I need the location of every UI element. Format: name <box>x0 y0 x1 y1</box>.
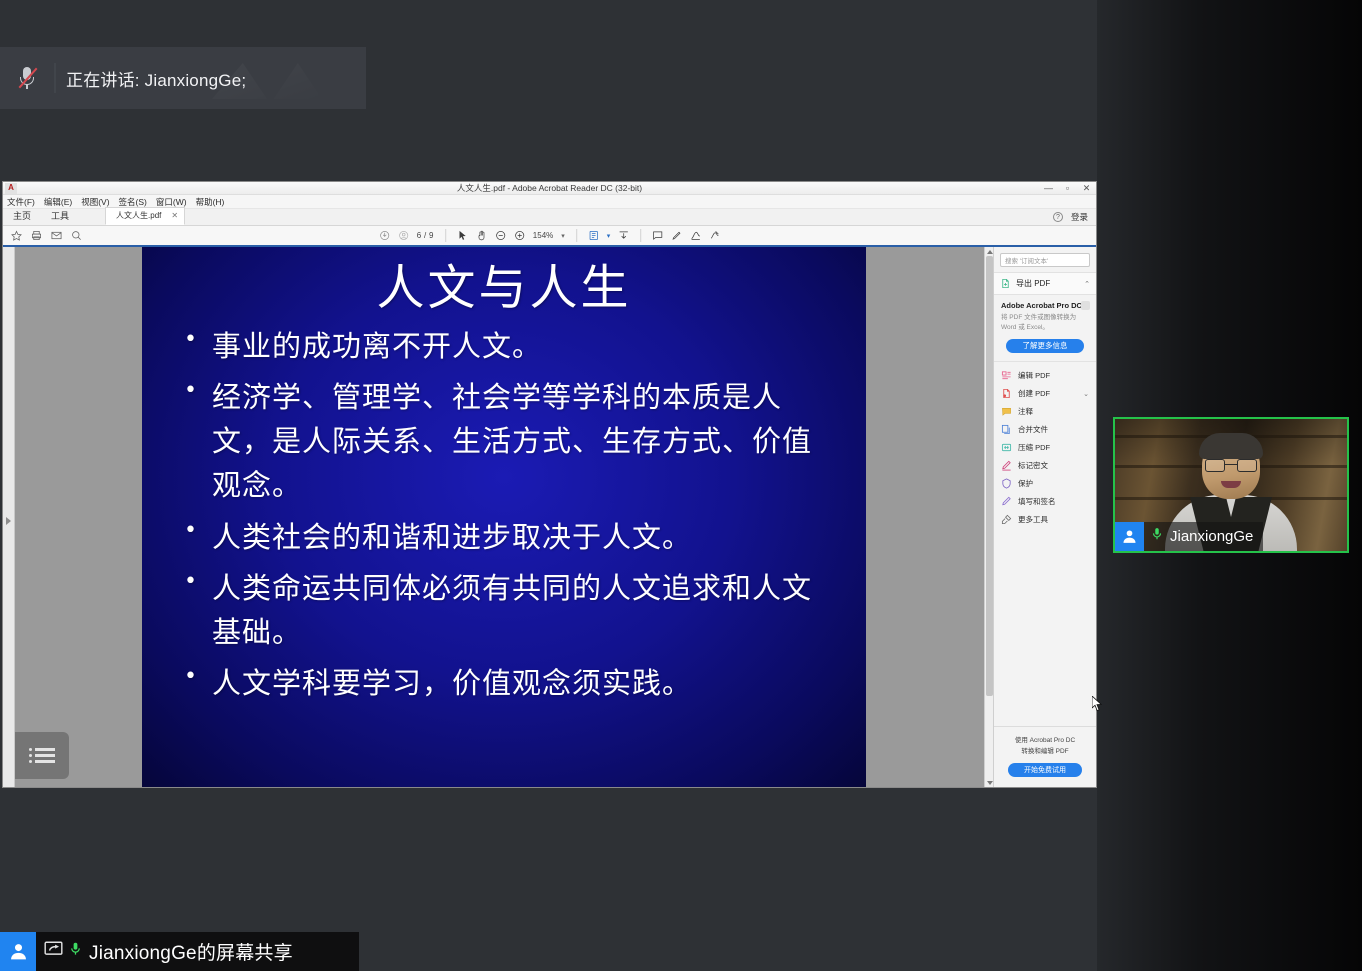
tab-document-label: 人文人生.pdf <box>116 210 161 221</box>
tool-comment[interactable]: 注释 <box>994 403 1096 421</box>
participant-label-bar: JianxiongGe <box>1115 522 1263 551</box>
fit-width-icon[interactable] <box>618 230 629 241</box>
slide-bullet: 经济学、管理学、社会学等学科的本质是人文，是人际关系、生活方式、生存方式、价值观… <box>212 375 814 507</box>
microphone-icon <box>1150 526 1164 547</box>
tool-label: 标记密文 <box>1018 460 1048 471</box>
chevron-up-icon[interactable]: ⌃ <box>1084 280 1090 288</box>
slide-bullet: 人文学科要学习，价值观念须实践。 <box>212 661 814 705</box>
pdf-slide-page: 人文与人生 事业的成功离不开人文。 经济学、管理学、社会学等学科的本质是人文，是… <box>142 247 866 787</box>
compress-pdf-icon <box>1001 442 1012 453</box>
tabbar-right-actions: ? 登录 <box>1053 211 1096 225</box>
learn-more-button[interactable]: 了解更多信息 <box>1006 339 1084 353</box>
close-button[interactable]: ✕ <box>1077 182 1096 195</box>
tool-protect[interactable]: 保护 <box>994 475 1096 493</box>
redact-icon <box>1001 460 1012 471</box>
export-pdf-icon <box>1000 278 1011 289</box>
microphone-muted-icon <box>0 47 54 109</box>
minimize-button[interactable]: — <box>1039 182 1058 195</box>
tool-label: 填写和签名 <box>1018 496 1056 507</box>
banner-divider <box>54 63 56 93</box>
screen-share-taskbar-item[interactable]: JianxiongGe的屏幕共享 <box>0 932 359 971</box>
zoom-out-icon[interactable] <box>495 230 506 241</box>
tool-redact[interactable]: 标记密文 <box>994 457 1096 475</box>
draw-icon[interactable] <box>690 230 701 241</box>
tool-label: 压缩 PDF <box>1018 442 1050 453</box>
comment-tool-icon <box>1001 406 1012 417</box>
promo-title: Adobe Acrobat Pro DC <box>1001 301 1089 310</box>
tool-fill-and-sign[interactable]: 填写和签名 <box>994 493 1096 511</box>
zoom-in-icon[interactable] <box>514 230 525 241</box>
chevron-down-icon[interactable]: ▾ <box>561 232 565 240</box>
zoom-level-value[interactable]: 154% <box>533 231 553 240</box>
window-controls: — ▫ ✕ <box>1039 182 1096 195</box>
pdf-page-viewer[interactable]: 人文与人生 事业的成功离不开人文。 经济学、管理学、社会学等学科的本质是人文，是… <box>15 247 993 787</box>
help-circle-icon[interactable]: ? <box>1053 212 1063 222</box>
comment-icon[interactable] <box>652 230 663 241</box>
slide-bullet: 事业的成功离不开人文。 <box>212 324 814 368</box>
highlight-icon[interactable] <box>671 230 682 241</box>
select-cursor-icon[interactable] <box>457 230 468 241</box>
close-icon[interactable]: ✕ <box>171 211 178 220</box>
slide-bullet-list: 事业的成功离不开人文。 经济学、管理学、社会学等学科的本质是人文，是人际关系、生… <box>168 324 840 705</box>
tool-combine-files[interactable]: 合并文件 <box>994 421 1096 439</box>
tools-list: 编辑 PDF 创建 PDF ⌄ 注释 <box>994 361 1096 529</box>
protect-shield-icon <box>1001 478 1012 489</box>
left-navigation-rail[interactable] <box>3 247 15 787</box>
footer-text-line2: 转换和编辑 PDF <box>1001 747 1089 757</box>
tab-home[interactable]: 主页 <box>3 207 41 225</box>
acrobat-titlebar[interactable]: A 人文人生.pdf - Adobe Acrobat Reader DC (32… <box>3 182 1096 195</box>
speaking-label: 正在讲话: JianxiongGe; <box>66 66 246 91</box>
toolbar-center-group: 6 / 9 154% ▾ <box>379 229 721 242</box>
toolbar-separator <box>445 229 446 242</box>
bookmarks-list-icon[interactable] <box>15 732 69 779</box>
star-icon[interactable] <box>11 230 22 241</box>
tool-label: 创建 PDF <box>1018 388 1050 399</box>
menu-edit[interactable]: 编辑(E) <box>44 196 72 208</box>
info-badge-icon <box>1081 301 1090 310</box>
create-pdf-icon <box>1001 388 1012 399</box>
footer-text-line1: 使用 Acrobat Pro DC <box>1001 736 1089 746</box>
slide-bullet: 人类命运共同体必须有共同的人文追求和人文基础。 <box>212 566 814 654</box>
menu-sign[interactable]: 签名(S) <box>119 196 147 208</box>
screen-root: 正在讲话: JianxiongGe; A 人文人生.pdf - Adobe Ac… <box>0 0 1362 971</box>
person-icon <box>1115 522 1144 551</box>
page-number-indicator[interactable]: 6 / 9 <box>417 231 434 240</box>
start-free-trial-button[interactable]: 开始免费试用 <box>1008 763 1082 777</box>
tools-panel-footer: 使用 Acrobat Pro DC 转换和编辑 PDF 开始免费试用 <box>994 726 1096 787</box>
fit-page-caret-icon[interactable]: ▾ <box>607 232 611 240</box>
vertical-scrollbar[interactable] <box>984 247 993 787</box>
person-hair <box>1199 433 1263 459</box>
scroll-up-arrow[interactable] <box>985 247 993 256</box>
participant-name: JianxiongGe <box>1170 528 1253 545</box>
add-comment-icon[interactable] <box>398 230 409 241</box>
screen-share-label: JianxiongGe的屏幕共享 <box>89 938 293 965</box>
fill-and-sign-icon <box>1001 496 1012 507</box>
menu-file[interactable]: 文件(F) <box>7 196 35 208</box>
chevron-down-icon[interactable]: ⌄ <box>1083 390 1089 398</box>
maximize-button[interactable]: ▫ <box>1058 182 1077 195</box>
tool-compress-pdf[interactable]: 压缩 PDF <box>994 439 1096 457</box>
participant-video-tile[interactable]: JianxiongGe <box>1113 417 1349 553</box>
menu-help[interactable]: 帮助(H) <box>196 196 225 208</box>
toolbar-separator-2 <box>576 229 577 242</box>
acrobat-window: A 人文人生.pdf - Adobe Acrobat Reader DC (32… <box>2 181 1097 788</box>
tools-panel: 搜索 '订阅文本' 导出 PDF ⌃ Adobe Acrobat Pro DC … <box>993 247 1096 787</box>
tools-search-input[interactable]: 搜索 '订阅文本' <box>1000 253 1090 267</box>
expand-panel-arrow[interactable] <box>6 517 11 525</box>
participant-name-wrap: JianxiongGe <box>1144 522 1263 551</box>
export-pdf-section-header[interactable]: 导出 PDF ⌃ <box>994 272 1096 295</box>
glasses-icon <box>1205 459 1257 472</box>
toolbar-separator-3 <box>640 229 641 242</box>
tool-edit-pdf[interactable]: 编辑 PDF <box>994 367 1096 385</box>
acrobat-body: 人文与人生 事业的成功离不开人文。 经济学、管理学、社会学等学科的本质是人文，是… <box>3 247 1096 787</box>
tool-label: 保护 <box>1018 478 1033 489</box>
slide-title: 人文与人生 <box>168 261 840 316</box>
scrollbar-thumb[interactable] <box>986 256 993 696</box>
export-pdf-title: 导出 PDF <box>1016 278 1079 289</box>
acrobat-tabbar: 主页 工具 人文人生.pdf ✕ ? 登录 <box>3 209 1096 226</box>
tool-label: 编辑 PDF <box>1018 370 1050 381</box>
adobe-acrobat-icon: A <box>5 183 17 194</box>
acrobat-window-title: 人文人生.pdf - Adobe Acrobat Reader DC (32-b… <box>3 182 1096 194</box>
signin-link[interactable]: 登录 <box>1071 211 1088 223</box>
more-tools-icon <box>1001 514 1012 525</box>
taskbar-icons <box>36 940 89 963</box>
menu-view[interactable]: 视图(V) <box>81 196 109 208</box>
tool-label: 更多工具 <box>1018 514 1048 525</box>
microphone-icon <box>68 940 83 963</box>
menu-window[interactable]: 窗口(W) <box>156 196 187 208</box>
edit-pdf-icon <box>1001 370 1012 381</box>
save-icon[interactable] <box>379 230 390 241</box>
sign-icon[interactable] <box>709 230 720 241</box>
combine-files-icon <box>1001 424 1012 435</box>
tab-document[interactable]: 人文人生.pdf ✕ <box>105 207 185 225</box>
slide-bullet: 人类社会的和谐和进步取决于人文。 <box>212 515 814 559</box>
promo-description: 将 PDF 文件或图像转换为 Word 或 Excel。 <box>1001 313 1089 333</box>
screen-share-icon <box>44 941 63 962</box>
zoom-search-icon[interactable] <box>71 230 82 241</box>
email-icon[interactable] <box>51 230 62 241</box>
acrobat-toolbar: 6 / 9 154% ▾ <box>3 226 1096 247</box>
fit-page-icon[interactable] <box>588 230 599 241</box>
toolbar-left-group <box>3 230 82 241</box>
person-icon <box>0 932 36 971</box>
print-icon[interactable] <box>31 230 42 241</box>
scroll-down-arrow[interactable] <box>985 778 993 787</box>
hand-icon[interactable] <box>476 230 487 241</box>
tool-label: 注释 <box>1018 406 1033 417</box>
speaking-banner: 正在讲话: JianxiongGe; <box>0 47 366 109</box>
tool-label: 合并文件 <box>1018 424 1048 435</box>
tool-create-pdf[interactable]: 创建 PDF ⌄ <box>994 385 1096 403</box>
acrobat-pro-promo: Adobe Acrobat Pro DC 将 PDF 文件或图像转换为 Word… <box>994 295 1096 361</box>
tab-tools[interactable]: 工具 <box>41 207 79 225</box>
tool-more-tools[interactable]: 更多工具 <box>994 511 1096 529</box>
